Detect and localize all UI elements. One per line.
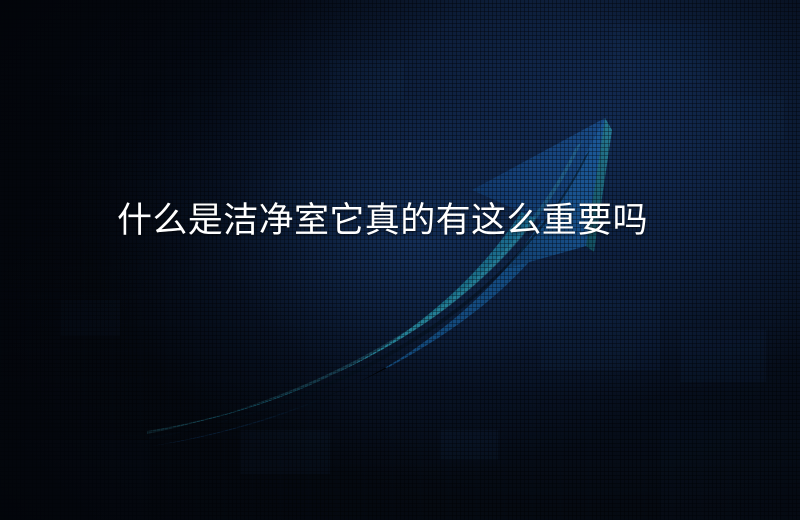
- background-vignette: [0, 0, 800, 520]
- promo-banner: 什么是洁净室它真的有这么重要吗: [0, 0, 800, 520]
- page-title: 什么是洁净室它真的有这么重要吗: [117, 198, 717, 244]
